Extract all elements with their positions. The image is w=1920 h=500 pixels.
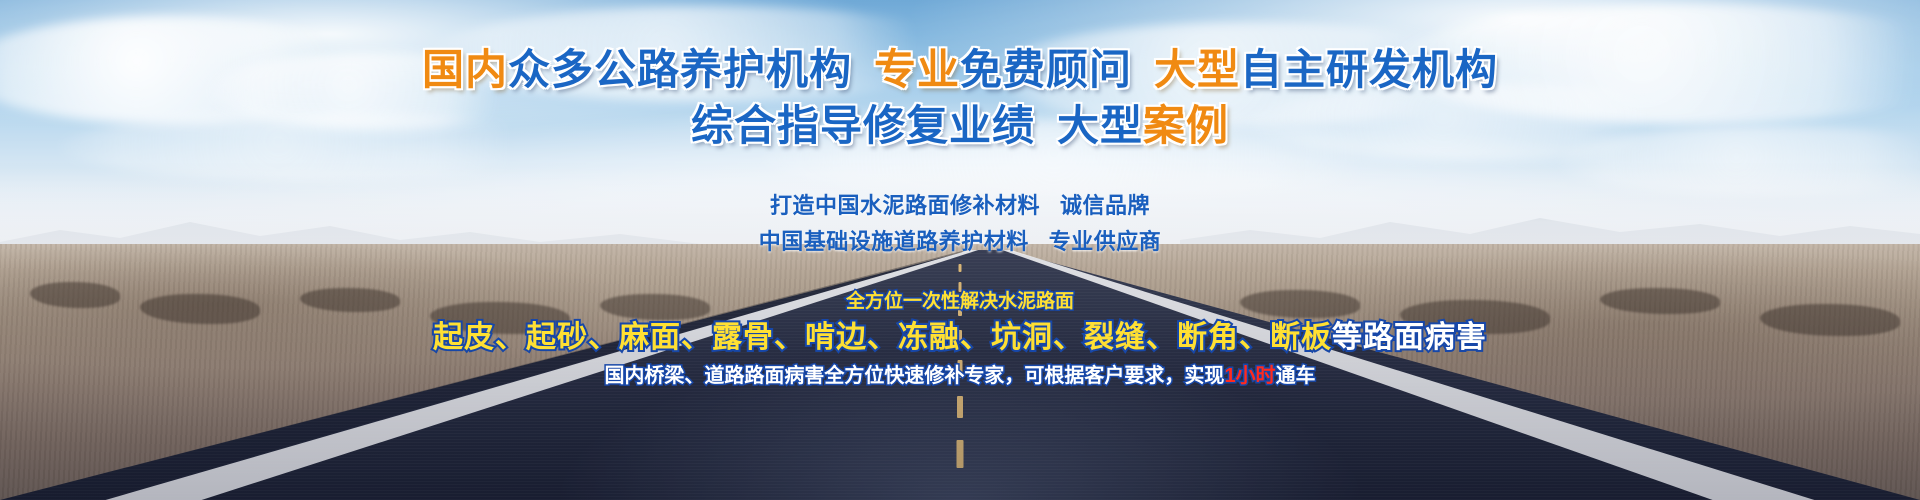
headline-seg-domestic: 国内 xyxy=(422,46,508,93)
headline-seg-professional: 专业 xyxy=(874,46,960,93)
bottom-line-3b: 通车 xyxy=(1276,365,1316,387)
headline-seg-large: 大型 xyxy=(1154,46,1240,93)
subheadline-line-1: 打造中国水泥路面修补材料诚信品牌 xyxy=(0,188,1920,224)
headline-seg-free-consult: 免费顾问 xyxy=(960,46,1132,93)
headline-seg-large-2: 大型 xyxy=(1057,102,1143,149)
headline-seg-guidance: 综合指导修复业绩 xyxy=(691,102,1035,149)
subheadline-2b: 专业供应商 xyxy=(1049,229,1162,254)
promo-banner: 国内众多公路养护机构专业免费顾问大型自主研发机构 综合指导修复业绩大型案例 打造… xyxy=(0,0,1920,500)
subheadline-2a: 中国基础设施道路养护材料 xyxy=(759,229,1029,254)
headline-seg-cases: 案例 xyxy=(1143,102,1229,149)
banner-content: 国内众多公路养护机构专业免费顾问大型自主研发机构 综合指导修复业绩大型案例 打造… xyxy=(0,0,1920,500)
subheadline-1a: 打造中国水泥路面修补材料 xyxy=(770,193,1040,218)
bottom-line-3a: 国内桥梁、道路路面病害全方位快速修补专家，可根据客户要求，实现 xyxy=(604,365,1224,387)
defect-list-tail: 等路面病害 xyxy=(1332,321,1487,354)
bottom-line-3: 国内桥梁、道路路面病害全方位快速修补专家，可根据客户要求，实现1小时通车 xyxy=(0,360,1920,392)
headline-seg-rnd: 自主研发机构 xyxy=(1240,46,1498,93)
defect-list: 起皮、起砂、麻面、露骨、啃边、冻融、坑洞、裂缝、断角、断板 xyxy=(433,321,1332,354)
subheadline-1b: 诚信品牌 xyxy=(1060,193,1150,218)
headline-seg-agencies: 众多公路养护机构 xyxy=(508,46,852,93)
headline-block: 国内众多公路养护机构专业免费顾问大型自主研发机构 综合指导修复业绩大型案例 xyxy=(0,42,1920,154)
bottom-line-2: 起皮、起砂、麻面、露骨、啃边、冻融、坑洞、裂缝、断角、断板等路面病害 xyxy=(0,316,1920,360)
headline-line-2: 综合指导修复业绩大型案例 xyxy=(0,98,1920,154)
bottom-highlight-1hour: 1小时 xyxy=(1224,365,1275,387)
bottom-line-1: 全方位一次性解决水泥路面 xyxy=(0,288,1920,316)
headline-line-1: 国内众多公路养护机构专业免费顾问大型自主研发机构 xyxy=(0,42,1920,98)
subheadline-line-2: 中国基础设施道路养护材料专业供应商 xyxy=(0,224,1920,260)
subheadline-block: 打造中国水泥路面修补材料诚信品牌 中国基础设施道路养护材料专业供应商 xyxy=(0,188,1920,260)
bottom-message-block: 全方位一次性解决水泥路面 起皮、起砂、麻面、露骨、啃边、冻融、坑洞、裂缝、断角、… xyxy=(0,288,1920,392)
